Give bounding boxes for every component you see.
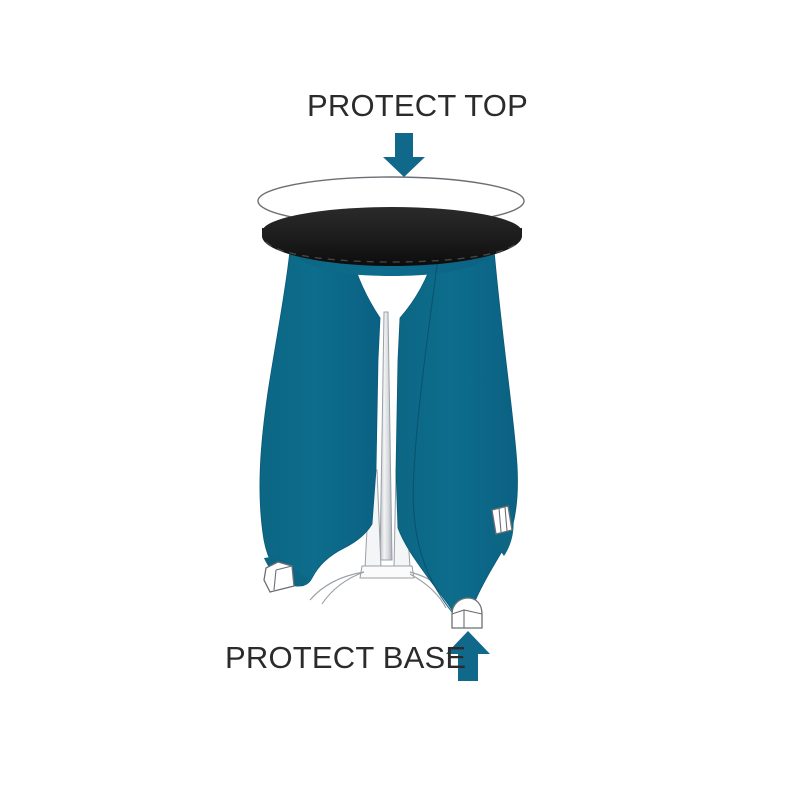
covered-tabletop-disc bbox=[262, 207, 522, 266]
drape-right-panel bbox=[396, 250, 518, 616]
base-foot-left bbox=[264, 562, 294, 592]
down-arrow bbox=[383, 133, 425, 177]
diagram-canvas: PROTECT TOP PROTECT BASE bbox=[0, 0, 800, 800]
base-foot-front bbox=[452, 598, 482, 628]
center-pole bbox=[380, 312, 392, 560]
protect-base-label: PROTECT BASE bbox=[225, 640, 466, 676]
foot-cap-right-body bbox=[492, 506, 512, 534]
base-leg-left-inner bbox=[322, 572, 364, 604]
base-foot-right bbox=[492, 506, 512, 534]
pole-base-hub bbox=[360, 566, 414, 578]
base-leg-left bbox=[310, 572, 364, 600]
protect-top-label: PROTECT TOP bbox=[307, 88, 528, 124]
down-arrow-shape bbox=[383, 133, 425, 177]
drape-left-panel bbox=[260, 250, 380, 586]
tabletop-face bbox=[262, 207, 522, 257]
